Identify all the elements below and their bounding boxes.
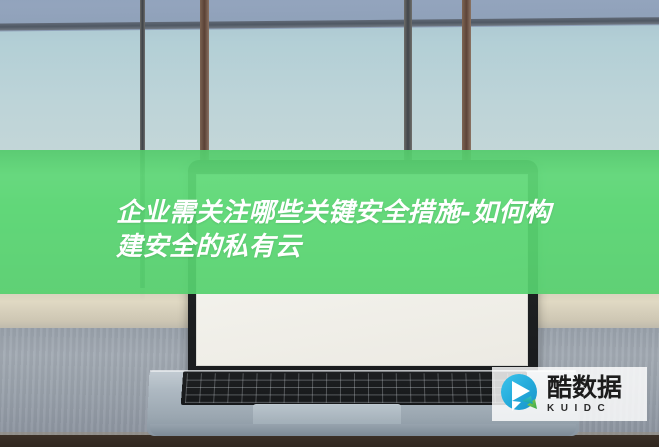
title-block: 企业需关注哪些关键安全措施-如何构建安全的私有云 (116, 196, 576, 264)
brand-name-en: KUIDC (547, 404, 622, 414)
laptop-base-front (150, 424, 576, 436)
page-title: 企业需关注哪些关键安全措施-如何构建安全的私有云 (116, 196, 576, 264)
kuidc-play-circle-logo-icon (497, 371, 543, 417)
laptop-keyboard (181, 371, 529, 404)
brand-name-cn: 酷数据 (547, 375, 622, 400)
article-cover-image: 企业需关注哪些关键安全措施-如何构建安全的私有云 (0, 0, 659, 447)
keyboard-keys (185, 373, 525, 403)
watermark-logo: 酷数据 KUIDC (492, 367, 647, 421)
watermark-text: 酷数据 KUIDC (547, 375, 622, 414)
